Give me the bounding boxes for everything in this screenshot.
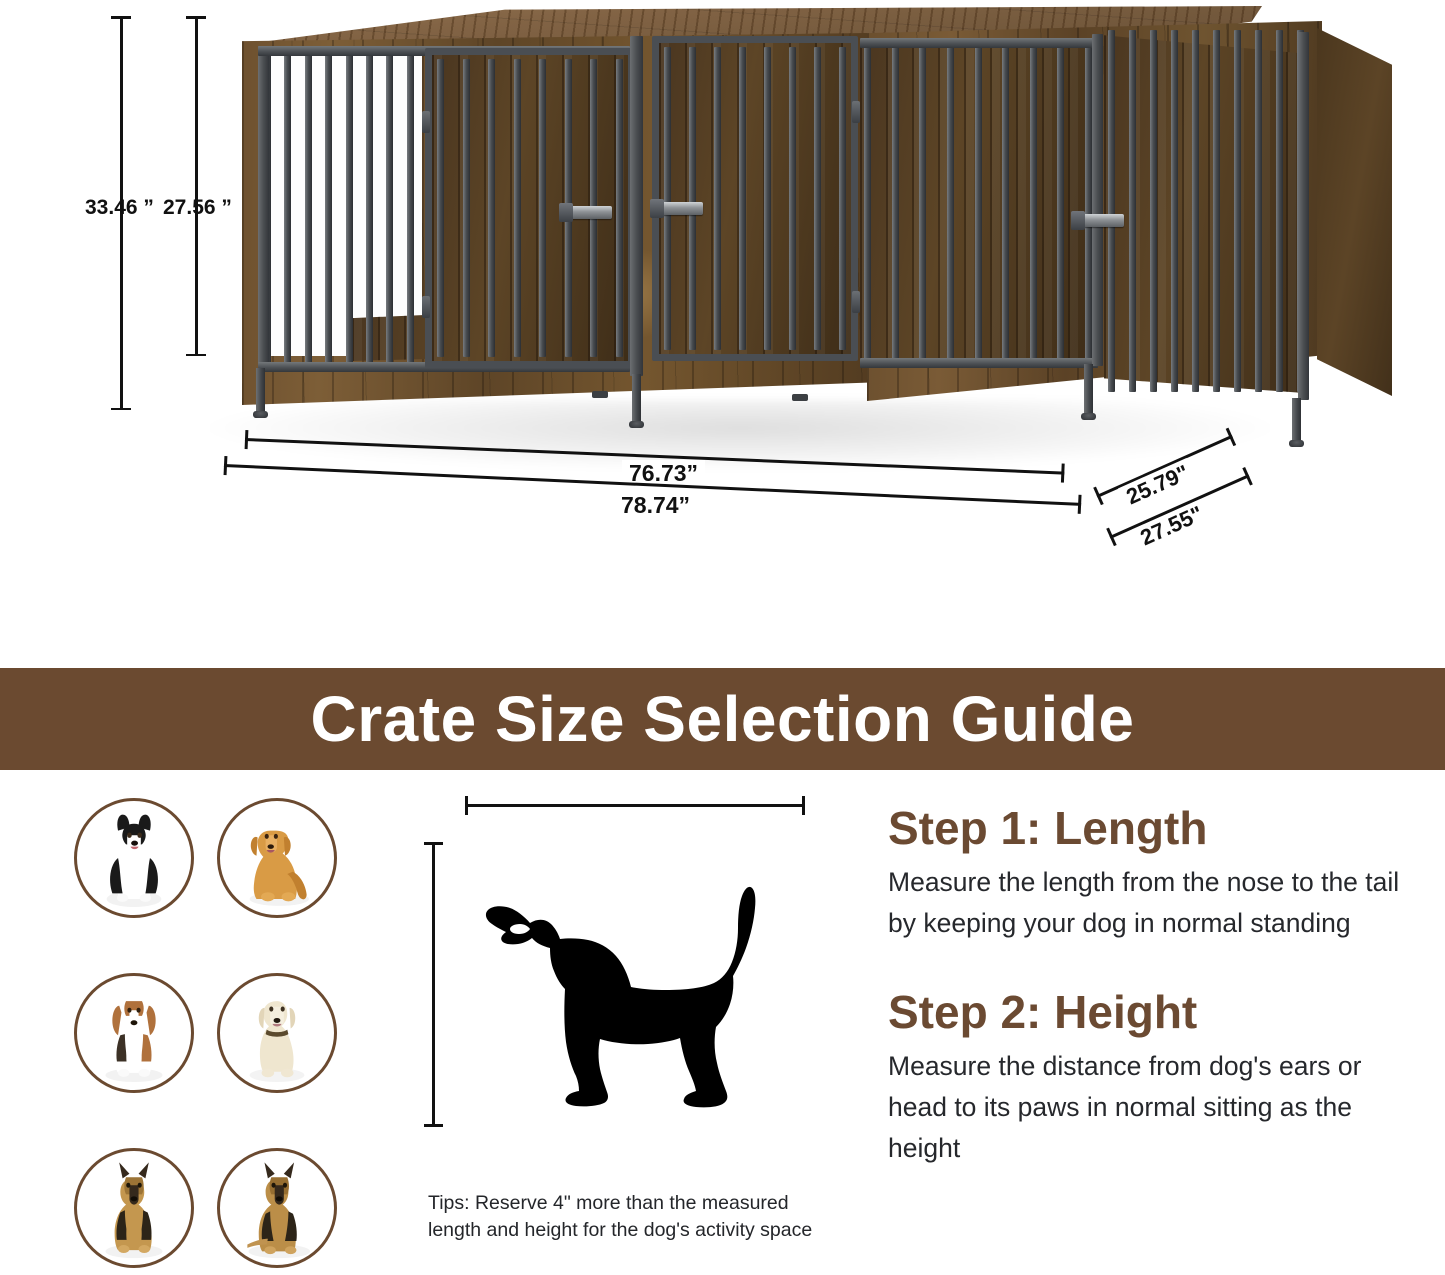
- border-collie-icon: [77, 801, 191, 915]
- crate-leg-back-right: [1292, 398, 1301, 443]
- breed-circle-german-shepherd-1: [74, 1148, 194, 1268]
- crate-foot-pad-left: [592, 391, 608, 398]
- right-door-bars: [664, 47, 846, 350]
- right-door-hinge-lower: [852, 291, 860, 313]
- beagle-icon: [77, 976, 191, 1090]
- dimension-label-height-body: 27.56 ”: [163, 196, 232, 220]
- dog-crate-furniture: [232, 6, 1262, 446]
- crate-right-end-panel: [1317, 28, 1392, 396]
- right-door-hinge-upper: [852, 101, 860, 123]
- end-panel-bars: [1108, 30, 1304, 392]
- left-cage-frame-left: [258, 46, 269, 371]
- step-1-title: Step 1: Length: [888, 800, 1408, 856]
- step-1-body: Measure the length from the nose to the …: [888, 862, 1408, 944]
- breed-circle-beagle: [74, 973, 194, 1093]
- right-crate-door[interactable]: [652, 36, 858, 361]
- height-measure-line: [432, 842, 435, 1127]
- length-measure-line: [465, 804, 805, 807]
- section-banner: Crate Size Selection Guide: [0, 668, 1445, 770]
- left-door-latch[interactable]: [566, 206, 612, 219]
- crate-foot-pad-right: [792, 394, 808, 401]
- tips-note: Tips: Reserve 4" more than the measured …: [428, 1190, 828, 1244]
- center-divider-post: [630, 36, 643, 376]
- labrador-icon: [220, 976, 334, 1090]
- left-door-hinge-upper: [422, 111, 430, 133]
- breed-photo-grid: [74, 798, 354, 1268]
- step-block-height: Step 2: Height Measure the distance from…: [888, 984, 1408, 1169]
- german-shepherd-icon: [220, 1151, 334, 1265]
- step-2-title: Step 2: Height: [888, 984, 1408, 1040]
- crate-leg-center: [632, 374, 641, 424]
- crate-leg-front-right: [1084, 364, 1093, 416]
- golden-retriever-icon: [220, 801, 334, 915]
- dimension-label-height-overall: 33.46 ”: [85, 196, 154, 220]
- german-shepherd-icon: [77, 1151, 191, 1265]
- breed-circle-golden-retriever: [217, 798, 337, 918]
- dimension-line-height-body: [195, 16, 198, 356]
- step-block-length: Step 1: Length Measure the length from t…: [888, 800, 1408, 944]
- end-panel-latch[interactable]: [1078, 214, 1124, 227]
- crate-leg-front-left: [256, 368, 265, 414]
- breed-circle-labrador: [217, 973, 337, 1093]
- end-panel-frame-right: [1298, 32, 1309, 400]
- dimension-label-width-overall: 78.74”: [614, 492, 697, 519]
- right-section-frame-bottom: [860, 358, 1098, 368]
- step-2-body: Measure the distance from dog's ears or …: [888, 1046, 1408, 1169]
- product-photo-section: 33.46 ” 27.56 ” 76.73” 78.74” 25.79" 27.…: [0, 0, 1445, 668]
- breed-circle-border-collie: [74, 798, 194, 918]
- infographic-page: 33.46 ” 27.56 ” 76.73” 78.74” 25.79" 27.…: [0, 0, 1445, 1275]
- right-door-latch[interactable]: [657, 202, 703, 215]
- breed-circle-german-shepherd-2: [217, 1148, 337, 1268]
- right-section-bars: [864, 46, 1092, 360]
- left-cage-bars: [264, 52, 434, 364]
- dog-silhouette-block: [410, 780, 840, 1140]
- left-door-hinge-lower: [422, 296, 430, 318]
- dimension-label-depth-overall: 27.55": [1132, 499, 1212, 553]
- right-section-frame-right: [1092, 34, 1103, 366]
- banner-title: Crate Size Selection Guide: [311, 682, 1135, 756]
- size-guide-section: Tips: Reserve 4" more than the measured …: [0, 770, 1445, 1275]
- right-section-frame-top: [860, 38, 1098, 48]
- steps-column: Step 1: Length Measure the length from t…: [888, 800, 1408, 1209]
- dog-silhouette-icon: [458, 828, 808, 1133]
